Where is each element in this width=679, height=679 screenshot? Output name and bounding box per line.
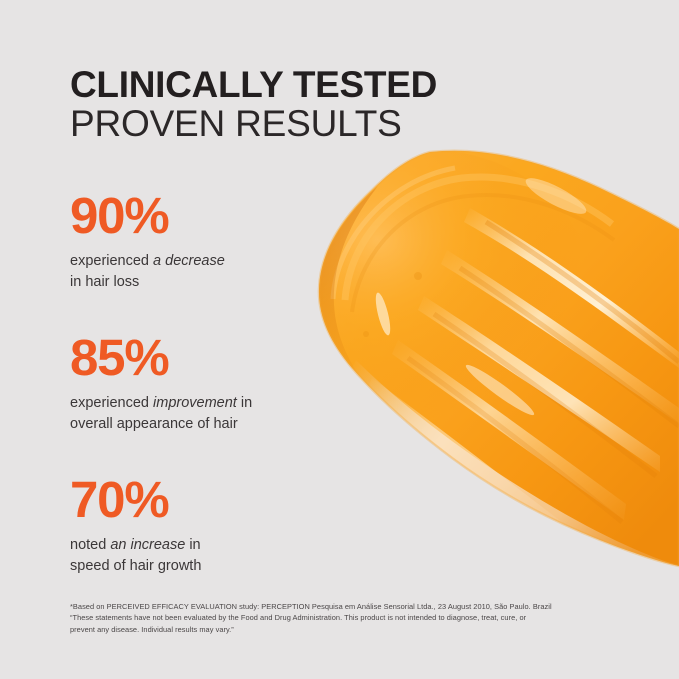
stat-desc-line2: overall appearance of hair bbox=[70, 416, 238, 432]
stat-description: noted an increase in speed of hair growt… bbox=[70, 535, 252, 576]
stat-desc-emphasis: a decrease bbox=[153, 253, 225, 269]
stat-desc-emphasis: an increase bbox=[110, 537, 185, 553]
stat-item: 85% experienced improvement in overall a… bbox=[70, 332, 252, 434]
stat-description: experienced improvement in overall appea… bbox=[70, 393, 252, 434]
stat-item: 70% noted an increase in speed of hair g… bbox=[70, 474, 252, 576]
headline-line-1: CLINICALLY TESTED bbox=[70, 66, 437, 104]
stat-value: 70% bbox=[70, 474, 252, 525]
stat-desc-part2: in bbox=[185, 537, 200, 553]
headline-block: CLINICALLY TESTED PROVEN RESULTS bbox=[70, 66, 437, 143]
statistics-list: 90% experienced a decrease in hair loss … bbox=[70, 190, 252, 576]
stat-desc-part1: experienced bbox=[70, 395, 153, 411]
stat-desc-emphasis: improvement bbox=[153, 395, 237, 411]
stat-item: 90% experienced a decrease in hair loss bbox=[70, 190, 252, 292]
stat-value: 85% bbox=[70, 332, 252, 383]
stat-value: 90% bbox=[70, 190, 252, 241]
stat-desc-line2: in hair loss bbox=[70, 274, 139, 290]
footnote-block: *Based on PERCEIVED EFFICACY EVALUATION … bbox=[70, 601, 630, 635]
stat-desc-part2: in bbox=[237, 395, 252, 411]
footnote-disclaimer-line-1: “These statements have not been evaluate… bbox=[70, 612, 630, 623]
product-claims-graphic: CLINICALLY TESTED PROVEN RESULTS 90% exp… bbox=[0, 0, 679, 679]
stat-description: experienced a decrease in hair loss bbox=[70, 251, 252, 292]
headline-line-2: PROVEN RESULTS bbox=[70, 104, 437, 143]
stat-desc-part1: noted bbox=[70, 537, 110, 553]
stat-desc-part1: experienced bbox=[70, 253, 153, 269]
footnote-study-source: *Based on PERCEIVED EFFICACY EVALUATION … bbox=[70, 601, 630, 612]
stat-desc-line2: speed of hair growth bbox=[70, 558, 201, 574]
footnote-disclaimer-line-2: prevent any disease. Individual results … bbox=[70, 624, 630, 635]
